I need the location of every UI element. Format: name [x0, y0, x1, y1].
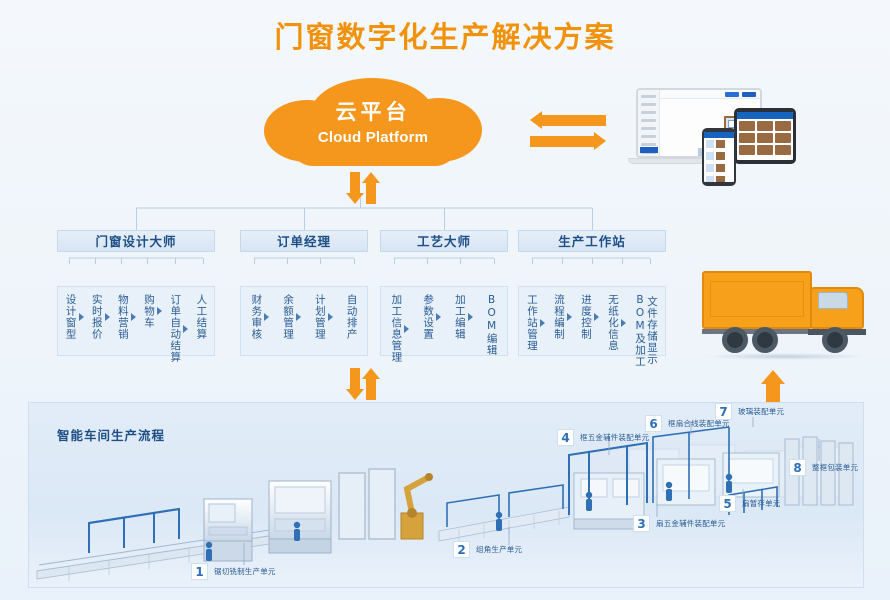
unit-callout-3[interactable]: 3 扇五金辅件装配单元 — [633, 515, 725, 532]
module-production-workstation[interactable]: 生产工作站 工作站管理 流程编制 进度控制 无纸化信息 BOM及加工 — [518, 230, 666, 356]
chevron-right-icon — [594, 313, 599, 321]
module-item-label: 购物车 — [143, 294, 155, 329]
module-item[interactable]: 实时报价 — [91, 294, 112, 340]
module-item[interactable]: 余额管理 — [282, 294, 303, 340]
module-title: 工艺大师 — [380, 230, 508, 252]
arrow-down-icon — [350, 368, 360, 400]
chevron-right-icon — [183, 325, 188, 333]
module-order-manager[interactable]: 订单经理 财务审核 余额管理 计划管理 自动排产 — [240, 230, 368, 356]
module-item[interactable]: 计划管理 — [314, 294, 335, 340]
module-item-label: BOM及加工 — [634, 294, 646, 368]
chevron-right-icon — [296, 313, 301, 321]
module-item-label: 参数设置 — [422, 294, 434, 340]
module-item-label: 加工信息管理 — [390, 294, 402, 363]
cloud-label-group: 云平台 Cloud Platform — [264, 96, 482, 146]
module-branch-lines — [518, 252, 666, 264]
module-item[interactable]: 人工结算 — [195, 294, 207, 340]
module-design-master[interactable]: 门窗设计大师 设计窗型 实时报价 物料营销 购物车 订单自 — [57, 230, 215, 356]
module-item-label: 无纸化信息 — [607, 294, 619, 352]
module-process-master[interactable]: 工艺大师 加工信息管理 参数设置 加工编辑 BOM编辑 — [380, 230, 508, 356]
unit-callout-5[interactable]: 5 扇暂存单元 — [719, 495, 781, 512]
module-item[interactable]: 加工信息管理 — [390, 294, 411, 363]
truck-wheel — [822, 327, 848, 353]
arrow-up-icon — [366, 368, 376, 400]
chevron-right-icon — [436, 313, 441, 321]
unit-label: 组角生产单元 — [476, 544, 522, 555]
arrow-left-icon — [530, 115, 606, 126]
module-item[interactable]: 财务审核 — [250, 294, 271, 340]
module-items: 加工信息管理 参数设置 加工编辑 BOM编辑 — [380, 286, 508, 356]
unit-label: 扇暂存单元 — [742, 498, 781, 509]
phone-device — [702, 128, 736, 186]
module-item[interactable]: 无纸化信息 — [607, 294, 628, 352]
unit-label: 玻璃装配单元 — [738, 406, 784, 417]
module-item[interactable]: 进度控制 — [580, 294, 601, 340]
cloud-label-cn: 云平台 — [264, 96, 482, 126]
smart-workshop-panel: 智能车间生产流程 — [28, 402, 864, 588]
truck-wheel — [752, 327, 778, 353]
multi-device-mockup — [628, 88, 804, 172]
module-branch-lines — [240, 252, 368, 264]
unit-callout-8[interactable]: 8 整框包装单元 — [789, 459, 858, 476]
module-item[interactable]: 自动排产 — [346, 294, 358, 340]
module-item-label: 自动排产 — [346, 294, 358, 340]
laptop-toolbar — [660, 90, 760, 99]
unit-callout-1[interactable]: 1 锯切铣制生产单元 — [191, 563, 276, 580]
module-item[interactable]: 设计窗型 — [65, 294, 86, 340]
module-item-label: 进度控制 — [580, 294, 592, 340]
chevron-right-icon — [540, 319, 545, 327]
module-title: 门窗设计大师 — [57, 230, 215, 252]
chevron-right-icon — [404, 325, 409, 333]
module-item-label: 余额管理 — [282, 294, 294, 340]
module-item[interactable]: 物料营销 — [117, 294, 138, 340]
unit-label: 框五金辅件装配单元 — [580, 432, 649, 443]
truck-shadow — [704, 353, 866, 360]
module-title: 生产工作站 — [518, 230, 666, 252]
module-item-label: 实时报价 — [91, 294, 103, 340]
module-item[interactable]: 工作站管理 — [526, 294, 547, 352]
module-items: 财务审核 余额管理 计划管理 自动排产 — [240, 286, 368, 356]
cloud-platform-node[interactable]: 云平台 Cloud Platform — [264, 78, 482, 166]
unit-label: 锯切铣制生产单元 — [214, 566, 276, 577]
unit-callout-7[interactable]: 7 玻璃装配单元 — [715, 403, 784, 420]
page-title: 门窗数字化生产解决方案 — [0, 14, 890, 56]
module-item[interactable]: 加工编辑 — [454, 294, 475, 340]
module-item-label: BOM编辑 — [486, 294, 498, 356]
unit-callout-2[interactable]: 2 组角生产单元 — [453, 541, 522, 558]
unit-number: 6 — [645, 415, 662, 432]
cloud-label-en: Cloud Platform — [264, 129, 482, 146]
tablet-device — [734, 108, 796, 164]
module-item-label: 加工编辑 — [454, 294, 466, 340]
module-branch-lines — [57, 252, 215, 264]
module-item-label: 设计窗型 — [65, 294, 77, 340]
module-item[interactable]: BOM编辑 — [486, 294, 498, 356]
chevron-right-icon — [264, 313, 269, 321]
module-item[interactable]: 订单自动结算 — [169, 294, 190, 363]
module-item-label: 人工结算 — [195, 294, 207, 340]
module-item-label: 流程编制 — [553, 294, 565, 340]
chevron-right-icon — [79, 313, 84, 321]
unit-number: 7 — [715, 403, 732, 420]
module-items: 设计窗型 实时报价 物料营销 购物车 订单自动结算 人工结算 — [57, 286, 215, 356]
chevron-right-icon — [468, 313, 473, 321]
truck-cargo-box — [702, 271, 812, 329]
unit-number: 2 — [453, 541, 470, 558]
unit-number: 5 — [719, 495, 736, 512]
module-item[interactable]: 流程编制 — [553, 294, 574, 340]
unit-label: 整框包装单元 — [812, 462, 858, 473]
chevron-right-icon — [567, 313, 572, 321]
module-title: 订单经理 — [240, 230, 368, 252]
module-item-label: 工作站管理 — [526, 294, 538, 352]
module-item[interactable]: BOM及加工 文件存储显示 — [634, 294, 658, 368]
module-items: 工作站管理 流程编制 进度控制 无纸化信息 BOM及加工 文件存储显示 — [518, 286, 666, 356]
chevron-right-icon — [621, 319, 626, 327]
module-item-label: 财务审核 — [250, 294, 262, 340]
unit-label: 扇五金辅件装配单元 — [656, 518, 725, 529]
unit-number: 3 — [633, 515, 650, 532]
module-item-label: 物料营销 — [117, 294, 129, 340]
unit-number: 4 — [557, 429, 574, 446]
unit-number: 1 — [191, 563, 208, 580]
module-branch-lines — [380, 252, 508, 264]
arrow-right-icon — [530, 136, 606, 147]
module-item[interactable]: 参数设置 — [422, 294, 443, 340]
delivery-truck — [700, 265, 876, 365]
chevron-right-icon — [105, 313, 110, 321]
chevron-right-icon — [131, 313, 136, 321]
truck-windshield — [818, 292, 848, 309]
unit-number: 8 — [789, 459, 806, 476]
chevron-right-icon — [157, 307, 162, 315]
module-item-label: 文件存储显示 — [646, 296, 658, 365]
module-item-label: 订单自动结算 — [169, 294, 181, 363]
unit-callout-4[interactable]: 4 框五金辅件装配单元 — [557, 429, 649, 446]
laptop-primary-button — [640, 147, 658, 153]
module-item-label: 计划管理 — [314, 294, 326, 340]
chevron-right-icon — [328, 313, 333, 321]
truck-wheel — [722, 327, 748, 353]
module-item[interactable]: 购物车 — [143, 294, 164, 329]
